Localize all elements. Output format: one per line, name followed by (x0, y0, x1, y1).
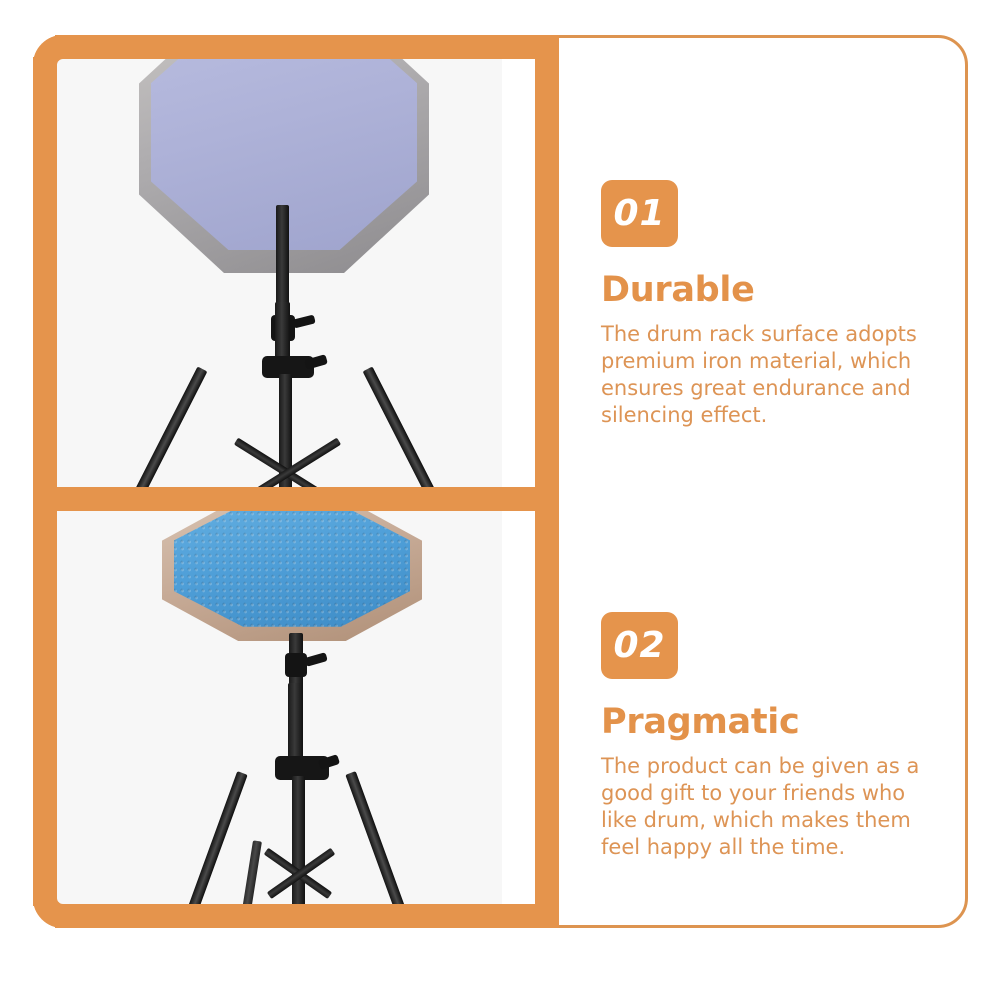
feature-1-number-badge: 01 (601, 180, 678, 247)
frame-top-bar (55, 35, 550, 59)
frame-vertical-divider (535, 35, 559, 928)
frame-bottom-bar (55, 904, 550, 928)
feature-2-title: Pragmatic (601, 704, 951, 741)
feature-2-description: The product can be given as a good gift … (601, 753, 931, 861)
infographic-page: 01 Durable The drum rack surface adopts … (0, 0, 1002, 1002)
feature-1-description: The drum rack surface adopts premium iro… (601, 321, 931, 429)
frame-left-bar (33, 57, 57, 906)
feature-block-1: 01 Durable The drum rack surface adopts … (601, 180, 951, 429)
feature-1-title: Durable (601, 272, 951, 309)
feature-block-2: 02 Pragmatic The product can be given as… (601, 612, 951, 861)
image-column-frame (33, 35, 550, 928)
feature-2-number-badge: 02 (601, 612, 678, 679)
frame-middle-divider (33, 487, 550, 511)
